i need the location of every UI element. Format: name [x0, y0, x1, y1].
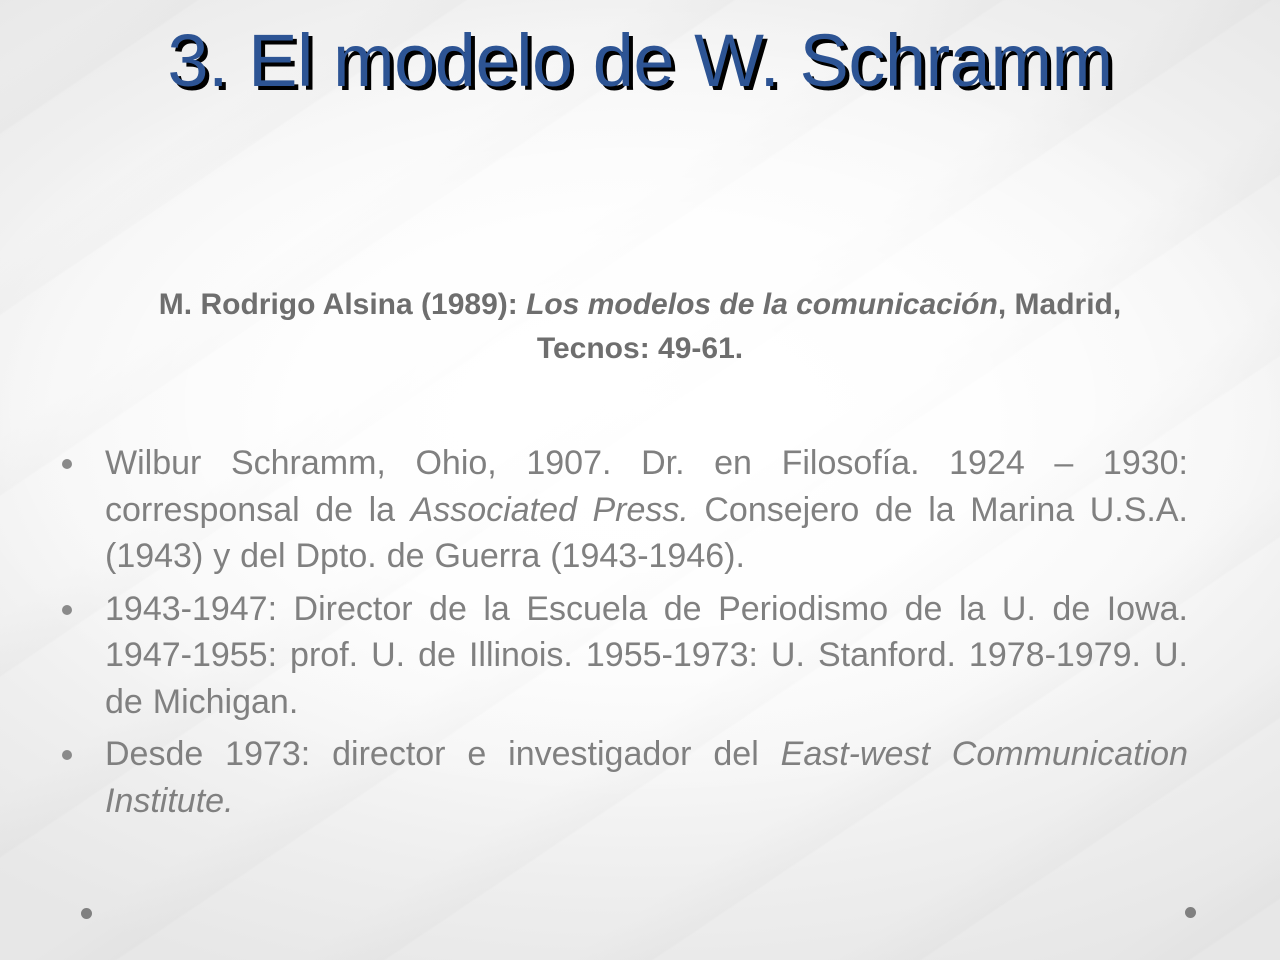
bullet-segment: 1943-1947: Director de la Escuela de Per… — [105, 590, 1188, 721]
list-item: Desde 1973: director e investigador del … — [54, 731, 1188, 824]
slide-title: 3. El modelo de W. Schramm — [60, 14, 1220, 108]
bullet-segment: Desde 1973: director e investigador del — [105, 735, 781, 773]
list-item: Wilbur Schramm, Ohio, 1907. Dr. en Filos… — [54, 440, 1188, 580]
presentation-slide: 3. El modelo de W. Schramm M. Rodrigo Al… — [0, 0, 1280, 960]
slide-body-bullet-list: Wilbur Schramm, Ohio, 1907. Dr. en Filos… — [54, 440, 1188, 824]
bullet-dot-icon — [62, 605, 72, 615]
list-item: 1943-1947: Director de la Escuela de Per… — [54, 586, 1188, 726]
bullet-dot-icon — [62, 750, 72, 760]
empty-bullet-dot-icon-right — [1185, 907, 1196, 918]
bullet-dot-icon — [62, 459, 72, 469]
empty-bullet-dot-icon-left — [81, 908, 92, 919]
bullet-segment-italic: Associated Press. — [411, 491, 689, 529]
subtitle-text-1: M. Rodrigo Alsina (1989): — [159, 288, 526, 321]
subtitle-book-title: Los modelos de la comunicación — [526, 288, 998, 321]
slide-reference-subtitle: M. Rodrigo Alsina (1989): Los modelos de… — [150, 283, 1130, 371]
